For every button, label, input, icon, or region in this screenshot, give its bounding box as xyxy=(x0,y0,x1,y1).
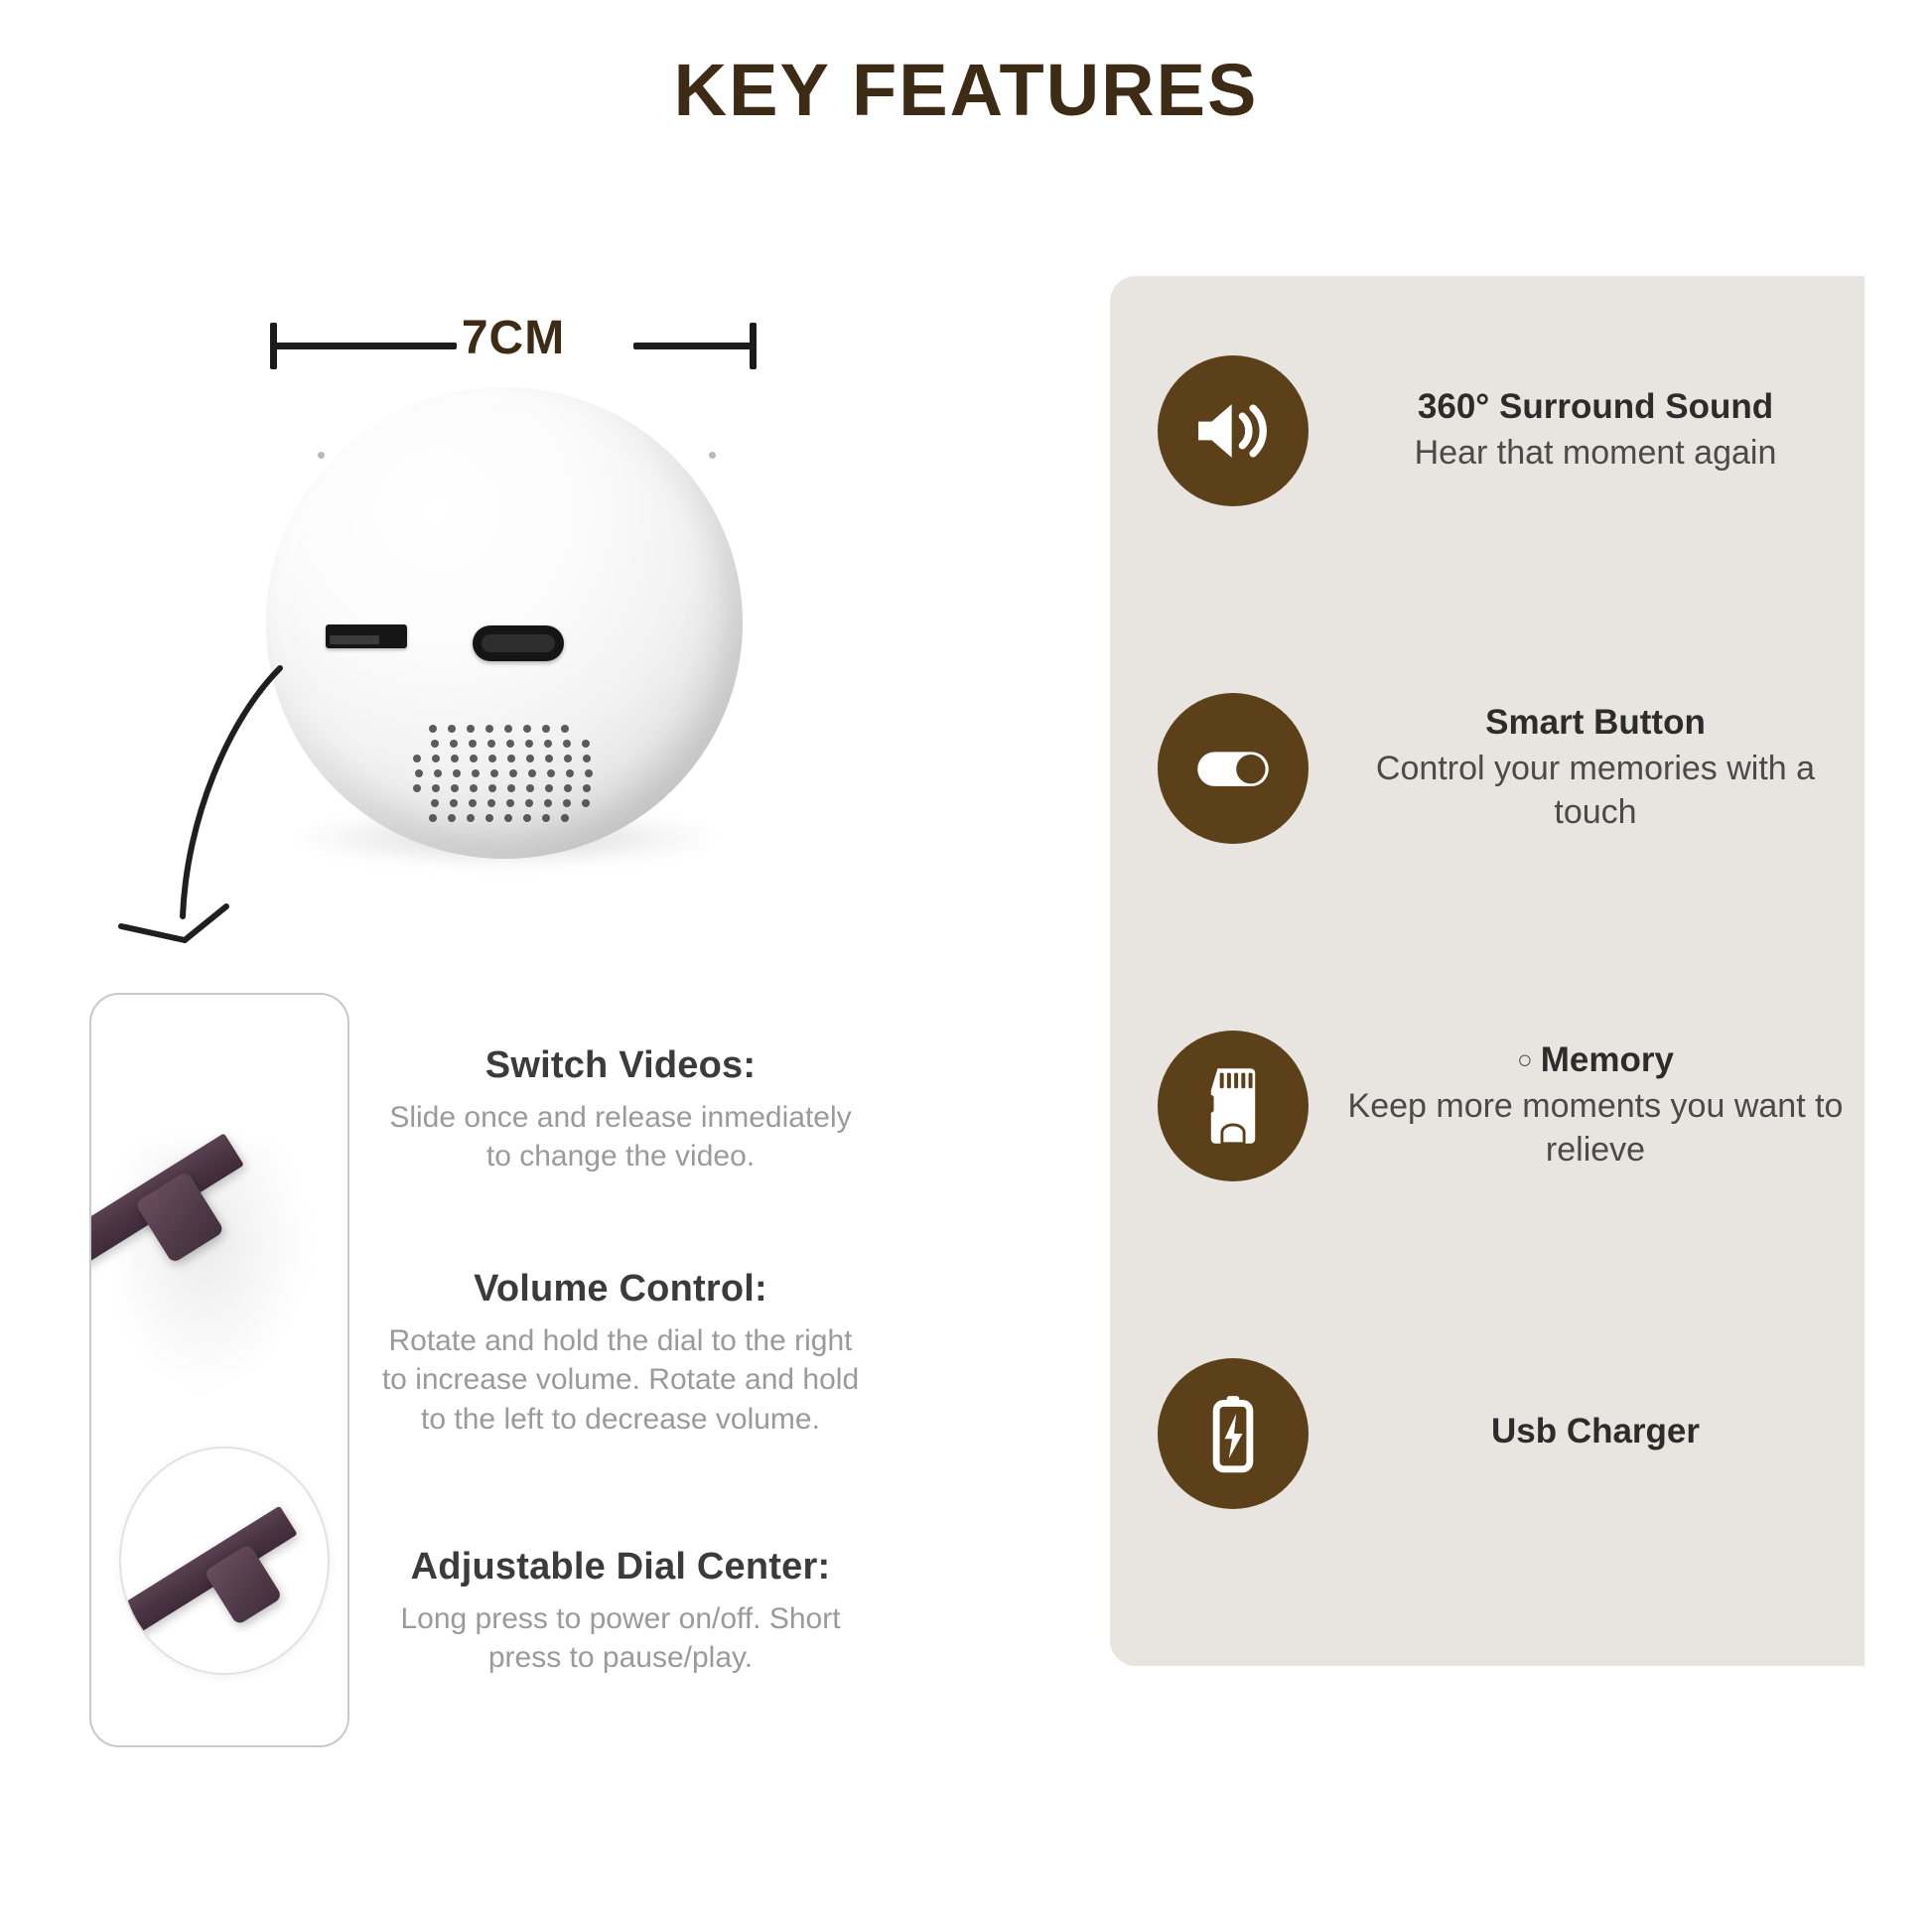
speaker-sound-icon xyxy=(1158,355,1309,506)
ruler-line-right xyxy=(633,343,753,349)
grille-dot xyxy=(547,769,555,777)
dial-zoom-inset xyxy=(119,1447,330,1675)
instruction-block-adjustable-dial-center: Adjustable Dial Center: Long press to po… xyxy=(377,1544,864,1678)
grille-dot xyxy=(485,814,493,822)
grille-dot xyxy=(504,725,512,733)
grille-dot xyxy=(544,799,552,807)
grille-dot xyxy=(434,769,442,777)
grille-dot xyxy=(509,769,517,777)
feature-text: Smart Button Control your memories with … xyxy=(1344,702,1853,834)
grille-dot xyxy=(432,755,440,762)
dial-detail-card xyxy=(89,993,349,1747)
grille-dot xyxy=(563,799,571,807)
feature-text: 360° Surround Sound Hear that moment aga… xyxy=(1344,386,1853,476)
grille-dot xyxy=(523,814,531,822)
instruction-title: Adjustable Dial Center: xyxy=(377,1544,864,1591)
feature-text: Usb Charger xyxy=(1344,1411,1853,1456)
grille-dot xyxy=(542,725,550,733)
grille-dot xyxy=(506,740,514,748)
grille-dot xyxy=(448,725,456,733)
grille-dot xyxy=(564,784,572,792)
ruler-cap-right xyxy=(750,323,757,369)
grille-dot xyxy=(488,755,496,762)
grille-dot xyxy=(566,769,574,777)
instruction-block-volume-control: Volume Control: Rotate and hold the dial… xyxy=(377,1266,864,1440)
feature-row-surround-sound: 360° Surround Sound Hear that moment aga… xyxy=(1158,355,1853,506)
feature-title: Smart Button xyxy=(1344,702,1847,744)
grille-dot xyxy=(523,725,531,733)
grille-dot xyxy=(545,784,553,792)
grille-dot xyxy=(561,814,569,822)
grille-dot xyxy=(561,725,569,733)
grille-dot xyxy=(504,814,512,822)
instruction-block-switch-videos: Switch Videos: Slide once and release in… xyxy=(377,1042,864,1176)
grille-dot xyxy=(470,755,478,762)
dimension-label: 7CM xyxy=(260,311,766,365)
grille-dot xyxy=(487,740,495,748)
grille-dot xyxy=(564,755,572,762)
page-title: KEY FEATURES xyxy=(0,48,1932,132)
grille-dot xyxy=(545,755,553,762)
toggle-switch-icon xyxy=(1158,693,1309,844)
grille-dot xyxy=(488,784,496,792)
grille-dot xyxy=(582,799,590,807)
grille-dot xyxy=(467,725,475,733)
sd-card-slot xyxy=(326,624,407,648)
feature-subtitle: Control your memories with a touch xyxy=(1344,748,1847,834)
grille-dot xyxy=(413,755,421,762)
memory-bullet-icon: ○ xyxy=(1517,1044,1533,1074)
instruction-body: Rotate and hold the dial to the right to… xyxy=(377,1321,864,1441)
grille-dot xyxy=(507,784,515,792)
grille-dot xyxy=(469,799,477,807)
grille-dot xyxy=(470,784,478,792)
grille-dot xyxy=(507,755,515,762)
feature-row-smart-button: Smart Button Control your memories with … xyxy=(1158,693,1853,844)
grille-dot xyxy=(490,769,498,777)
grille-dot xyxy=(450,740,458,748)
speaker-grille xyxy=(405,725,604,832)
grille-dot xyxy=(525,799,533,807)
grille-dot xyxy=(413,784,421,792)
feature-subtitle: Hear that moment again xyxy=(1344,432,1847,476)
grille-dot xyxy=(431,799,439,807)
instruction-title: Switch Videos: xyxy=(377,1042,864,1090)
instruction-body: Long press to power on/off. Short press … xyxy=(377,1599,864,1679)
grille-dot xyxy=(429,725,437,733)
feature-title: ○Memory xyxy=(1344,1039,1847,1081)
feature-text: ○Memory Keep more moments you want to re… xyxy=(1344,1039,1853,1172)
microphone-pinhole-icon xyxy=(709,452,716,459)
instruction-body: Slide once and release inmediately to ch… xyxy=(377,1098,864,1177)
usb-c-port xyxy=(473,625,564,661)
grille-dot xyxy=(451,755,459,762)
grille-dot xyxy=(472,769,480,777)
infographic-page: KEY FEATURES 7CM Switch Videos: Slide on… xyxy=(0,0,1932,1932)
battery-charging-icon xyxy=(1158,1358,1309,1509)
grille-dot xyxy=(506,799,514,807)
features-panel: 360° Surround Sound Hear that moment aga… xyxy=(1110,276,1864,1666)
grille-dot xyxy=(448,814,456,822)
feature-subtitle: Keep more moments you want to relieve xyxy=(1344,1085,1847,1172)
instruction-title: Volume Control: xyxy=(377,1266,864,1313)
grille-dot xyxy=(467,814,475,822)
grille-dot xyxy=(485,725,493,733)
grille-dot xyxy=(526,755,534,762)
grille-dot xyxy=(582,740,590,748)
grille-dot xyxy=(528,769,536,777)
grille-dot xyxy=(525,740,533,748)
sd-card-icon xyxy=(1158,1031,1309,1181)
grille-dot xyxy=(415,769,423,777)
grille-dot xyxy=(429,814,437,822)
dimension-ruler: 7CM xyxy=(260,313,766,374)
grille-dot xyxy=(453,769,461,777)
grille-dot xyxy=(544,740,552,748)
curved-arrow-icon xyxy=(109,650,387,968)
microphone-pinhole-icon xyxy=(318,452,325,459)
grille-dot xyxy=(432,784,440,792)
grille-dot xyxy=(585,769,593,777)
grille-dot xyxy=(469,740,477,748)
feature-title: Usb Charger xyxy=(1344,1411,1847,1452)
grille-dot xyxy=(563,740,571,748)
feature-title-text: Memory xyxy=(1541,1040,1674,1079)
feature-row-usb-charger: Usb Charger xyxy=(1158,1358,1853,1509)
grille-dot xyxy=(583,784,591,792)
grille-dot xyxy=(583,755,591,762)
feature-title: 360° Surround Sound xyxy=(1344,386,1847,428)
grille-dot xyxy=(450,799,458,807)
grille-dot xyxy=(542,814,550,822)
grille-dot xyxy=(487,799,495,807)
grille-dot xyxy=(451,784,459,792)
grille-dot xyxy=(431,740,439,748)
grille-dot xyxy=(526,784,534,792)
feature-row-memory: ○Memory Keep more moments you want to re… xyxy=(1158,1031,1853,1181)
